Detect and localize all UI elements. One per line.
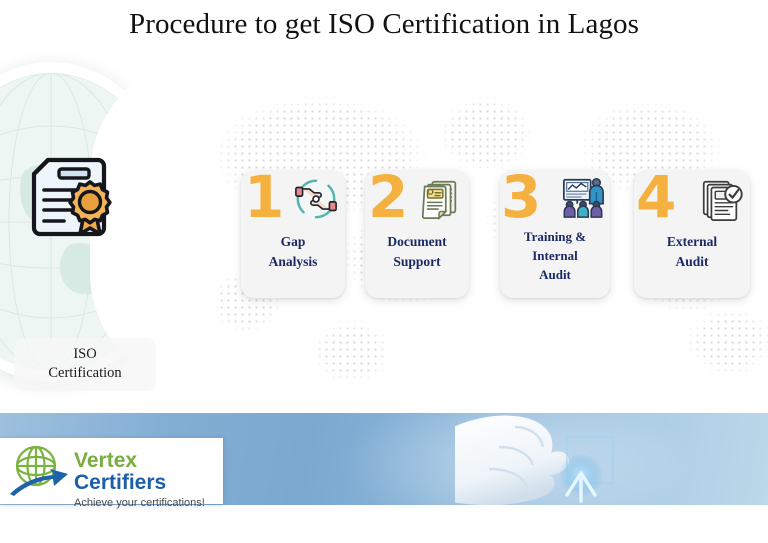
step-card-header: 2: [365, 170, 469, 230]
step-card-label: External Audit: [634, 232, 750, 271]
step-label-line1: Training &: [500, 228, 610, 247]
step-label-line1: External: [634, 232, 750, 252]
document-stack-icon: [417, 176, 463, 222]
step-card-header: 1: [241, 170, 345, 230]
audit-checkmark-icon: [698, 176, 744, 222]
step-card-label: Training & Internal Audit: [500, 228, 610, 285]
brand-logo-inner: Vertex Certifiers Achieve your certifica…: [8, 442, 220, 500]
training-presentation-icon: [560, 174, 606, 220]
gloved-hand-touch-interface-photo: [455, 413, 695, 505]
step-card-header: 3: [500, 170, 610, 230]
step-label-line1: Document: [365, 232, 469, 252]
step-card-training-internal-audit[interactable]: 3: [500, 170, 610, 298]
step-number: 4: [636, 168, 676, 226]
step-number: 1: [244, 168, 284, 226]
step-label-line3: Audit: [500, 266, 610, 285]
step-number: 3: [501, 168, 541, 226]
step-label-line2: Support: [365, 252, 469, 272]
brand-name-second: Certifiers: [74, 471, 166, 494]
globe-arrow-logo-icon: [8, 442, 70, 498]
brand-name: Vertex Certifiers: [74, 450, 220, 494]
brand-text: Vertex Certifiers Achieve your certifica…: [74, 450, 220, 509]
brand-name-first: Vertex: [74, 449, 137, 472]
step-label-line1: Gap: [241, 232, 345, 252]
step-card-document-support[interactable]: 2: [365, 170, 469, 298]
infographic-canvas: Procedure to get ISO Certification in La…: [0, 0, 768, 543]
brand-logo-box[interactable]: Vertex Certifiers Achieve your certifica…: [0, 438, 223, 504]
handshake-partnership-icon: [293, 176, 339, 222]
step-card-header: 4: [634, 170, 750, 230]
step-card-label: Gap Analysis: [241, 232, 345, 271]
step-card-external-audit[interactable]: 4 External A: [634, 170, 750, 298]
step-card-label: Document Support: [365, 232, 469, 271]
step-label-line2: Analysis: [241, 252, 345, 272]
step-card-gap-analysis[interactable]: 1 Gap Analysis: [241, 170, 345, 298]
step-label-line2: Audit: [634, 252, 750, 272]
step-number: 2: [368, 168, 408, 226]
step-label-line2: Internal: [500, 247, 610, 266]
brand-tagline: Achieve your certifications!: [74, 497, 220, 509]
